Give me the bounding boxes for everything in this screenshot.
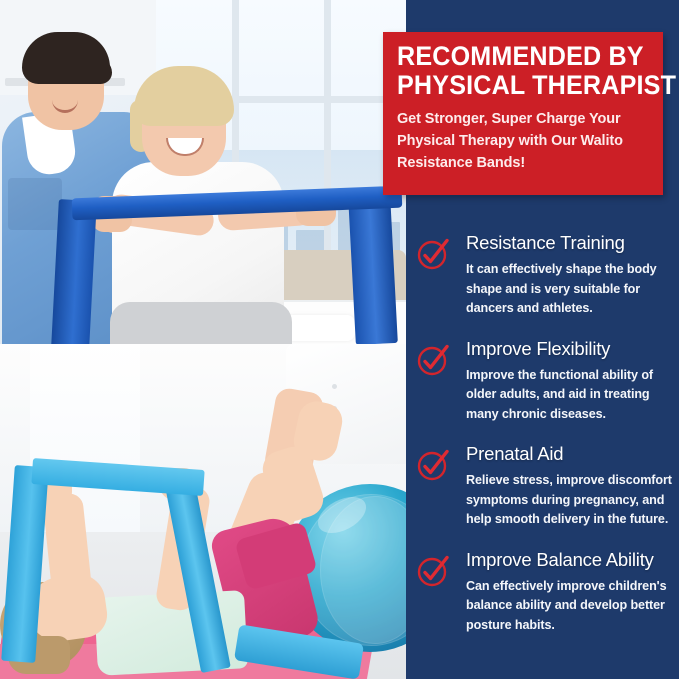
check-circle-icon bbox=[416, 554, 450, 588]
recommended-banner: RECOMMENDED BY PHYSICAL THERAPIST Get St… bbox=[383, 32, 663, 195]
feature-item: Improve Flexibility Improve the function… bbox=[416, 338, 674, 425]
woman-pants bbox=[110, 302, 292, 344]
feature-description: Improve the functional ability of older … bbox=[466, 366, 674, 425]
feature-list: Resistance Training It can effectively s… bbox=[416, 232, 674, 654]
feature-description: Relieve stress, improve discomfort sympt… bbox=[466, 471, 674, 530]
product-feature-infographic: RECOMMENDED BY PHYSICAL THERAPIST Get St… bbox=[0, 0, 679, 679]
woman-hair bbox=[134, 66, 234, 126]
banner-subtitle: Get Stronger, Super Charge Your Physical… bbox=[397, 108, 649, 174]
feature-item: Prenatal Aid Relieve stress, improve dis… bbox=[416, 443, 674, 530]
feature-title: Improve Flexibility bbox=[466, 338, 674, 360]
scrub-pocket bbox=[8, 178, 62, 230]
therapist-and-senior-woman-photo bbox=[0, 0, 406, 344]
feature-item: Resistance Training It can effectively s… bbox=[416, 232, 674, 319]
feature-title: Resistance Training bbox=[466, 232, 674, 254]
feature-title: Prenatal Aid bbox=[466, 443, 674, 465]
resistance-band-right-tail bbox=[348, 195, 398, 344]
check-circle-icon bbox=[416, 448, 450, 482]
check-circle-icon bbox=[416, 343, 450, 377]
photo-column bbox=[0, 0, 406, 679]
banner-title-line2: PHYSICAL THERAPIST bbox=[397, 71, 631, 100]
therapist-hair bbox=[22, 32, 110, 84]
girl-on-mat-with-exercise-ball-photo bbox=[0, 344, 406, 679]
feature-item: Improve Balance Ability Can effectively … bbox=[416, 549, 674, 636]
banner-title-line1: RECOMMENDED BY bbox=[397, 42, 631, 71]
feature-description: Can effectively improve children's balan… bbox=[466, 577, 674, 636]
check-circle-icon bbox=[416, 237, 450, 271]
resistance-band-left-tail bbox=[51, 199, 97, 344]
feature-title: Improve Balance Ability bbox=[466, 549, 674, 571]
feature-description: It can effectively shape the body shape … bbox=[466, 260, 674, 319]
